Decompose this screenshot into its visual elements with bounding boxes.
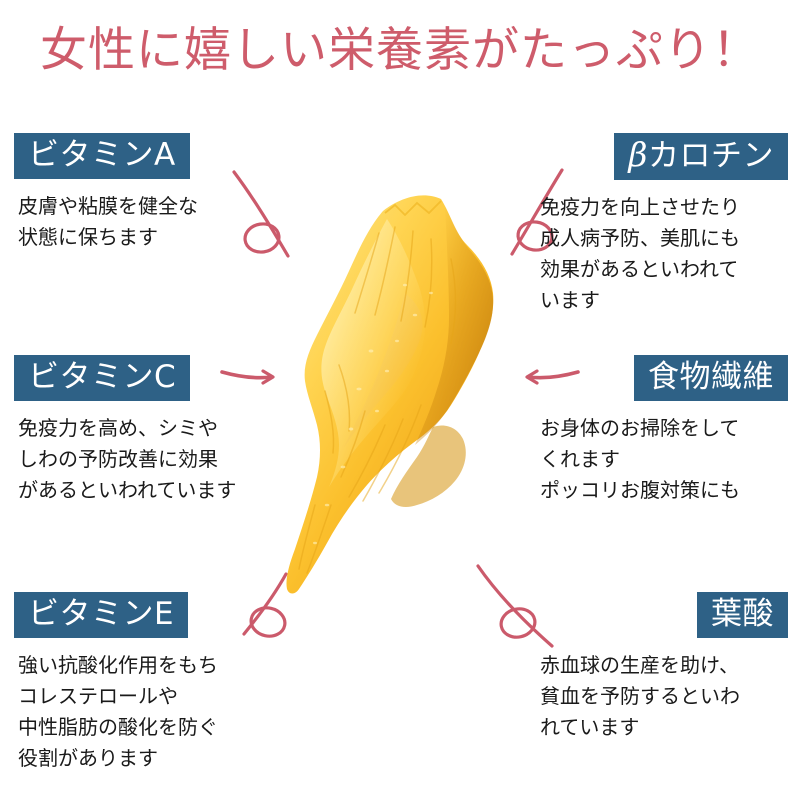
nutrient-badge-beta-carotene: βカロチン (614, 133, 788, 180)
nutrient-badge-beta-carotene-text: カロチン (648, 138, 774, 174)
nutrient-badge-vitamin-a: ビタミンA (14, 133, 190, 179)
dried-mango-image (255, 175, 555, 605)
nutrient-block-dietary-fiber: 食物繊維 お身体のお掃除をして くれます ポッコリお腹対策にも (536, 355, 788, 506)
nutrient-description-folic-acid: 赤血球の生産を助け、 貧血を予防するといわ れています (536, 650, 788, 743)
nutrient-description-vitamin-e: 強い抗酸化作用をもち コレステロールや 中性脂肪の酸化を防ぐ 役割があります (14, 650, 264, 774)
nutrient-badge-vitamin-c: ビタミンC (14, 355, 190, 401)
infographic-page: 女性に嬉しい栄養素がたっぷり！ (0, 0, 800, 800)
nutrient-badge-folic-acid: 葉酸 (697, 592, 788, 638)
nutrient-description-vitamin-a: 皮膚や粘膜を健全な 状態に保ちます (14, 191, 264, 253)
nutrient-block-folic-acid: 葉酸 赤血球の生産を助け、 貧血を予防するといわ れています (536, 592, 788, 743)
nutrient-block-vitamin-e: ビタミンE 強い抗酸化作用をもち コレステロールや 中性脂肪の酸化を防ぐ 役割が… (14, 592, 264, 774)
nutrient-block-vitamin-a: ビタミンA 皮膚や粘膜を健全な 状態に保ちます (14, 133, 264, 253)
page-title: 女性に嬉しい栄養素がたっぷり！ (0, 22, 800, 80)
nutrient-description-beta-carotene: 免疫力を向上させたり 成人病予防、美肌にも 効果があるといわれて います (536, 192, 788, 316)
nutrient-block-vitamin-c: ビタミンC 免疫力を高め、シミや しわの予防改善に効果 があるといわれています (14, 355, 264, 506)
nutrient-badge-dietary-fiber: 食物繊維 (634, 355, 788, 401)
nutrient-block-beta-carotene: βカロチン 免疫力を向上させたり 成人病予防、美肌にも 効果があるといわれて い… (536, 133, 788, 316)
mango-slice-illustration (255, 175, 555, 605)
beta-symbol: β (628, 135, 648, 174)
nutrient-description-vitamin-c: 免疫力を高め、シミや しわの予防改善に効果 があるといわれています (14, 413, 264, 506)
nutrient-description-dietary-fiber: お身体のお掃除をして くれます ポッコリお腹対策にも (536, 413, 788, 506)
nutrient-badge-vitamin-e: ビタミンE (14, 592, 188, 638)
